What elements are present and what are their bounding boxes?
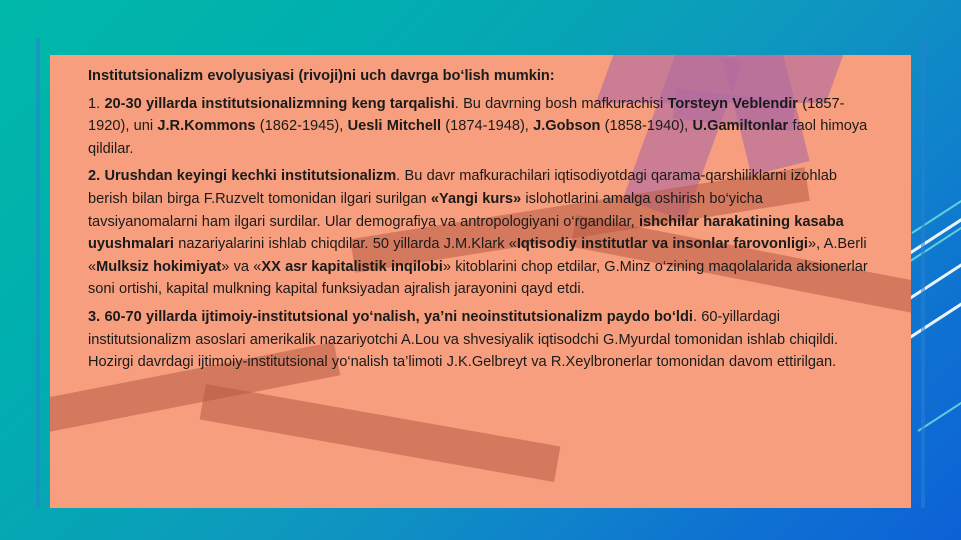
- text-run: . Bu davrning bosh mafkurachisi: [455, 96, 668, 112]
- diagonal-streak-1: [904, 219, 961, 303]
- text-run-bold: 20-30 yillarda institutsionalizmning ken…: [104, 96, 454, 112]
- text-run-bold: «Yangi kurs»: [431, 191, 521, 207]
- body-paragraph-2: 2. Urushdan keyingi kechki institutsiona…: [88, 165, 873, 301]
- text-run-bold: U.Gamiltonlar: [693, 118, 789, 134]
- text-run-bold: 3.: [88, 309, 104, 325]
- text-run: » va «: [221, 259, 261, 275]
- text-run-bold: Urushdan keyingi kechki institutsionaliz…: [104, 168, 396, 184]
- text-run-bold: Iqtisodiy institutlar va insonlar farovo…: [517, 236, 808, 252]
- slide-canvas: Institutsionalizm evolyusiyasi (rivoji)n…: [0, 0, 961, 540]
- text-run-bold: J.R.Kommons: [157, 118, 255, 134]
- heading-text: Institutsionalizm evolyusiyasi (rivoji)n…: [88, 68, 555, 84]
- text-run-bold: Torsteyn Veblendir: [667, 96, 798, 112]
- edge-tick-left: [36, 38, 40, 508]
- text-run: 1.: [88, 96, 104, 112]
- text-run: (1858-1940),: [600, 118, 692, 134]
- text-run: (1874-1948),: [441, 118, 533, 134]
- text-run-bold: Uesli Mitchell: [348, 118, 441, 134]
- watermark-shape-dark-2: [200, 384, 561, 482]
- text-run-bold: J.Gobson: [533, 118, 600, 134]
- content-card: Institutsionalizm evolyusiyasi (rivoji)n…: [50, 55, 911, 508]
- body-paragraph-3: 3. 60-70 yillarda ijtimoiy-institutsiona…: [88, 306, 873, 374]
- text-run: (1862-1945),: [256, 118, 348, 134]
- heading-paragraph: Institutsionalizm evolyusiyasi (rivoji)n…: [88, 65, 873, 88]
- text-run-bold: 60-70 yillarda ijtimoiy-institutsional y…: [104, 309, 693, 325]
- text-run-bold: XX asr kapitalistik inqilobi: [261, 259, 442, 275]
- slide-text-body: Institutsionalizm evolyusiyasi (rivoji)n…: [88, 58, 873, 379]
- edge-tick-right: [921, 38, 925, 508]
- text-run-bold: Mulksiz hokimiyat: [96, 259, 221, 275]
- text-run-bold: 2.: [88, 168, 104, 184]
- text-run: nazariyalarini ishlab chiqdilar. 50 yill…: [174, 236, 517, 252]
- diagonal-streak-5: [911, 183, 961, 234]
- body-paragraph-1: 1. 20-30 yillarda institutsionalizmning …: [88, 93, 873, 161]
